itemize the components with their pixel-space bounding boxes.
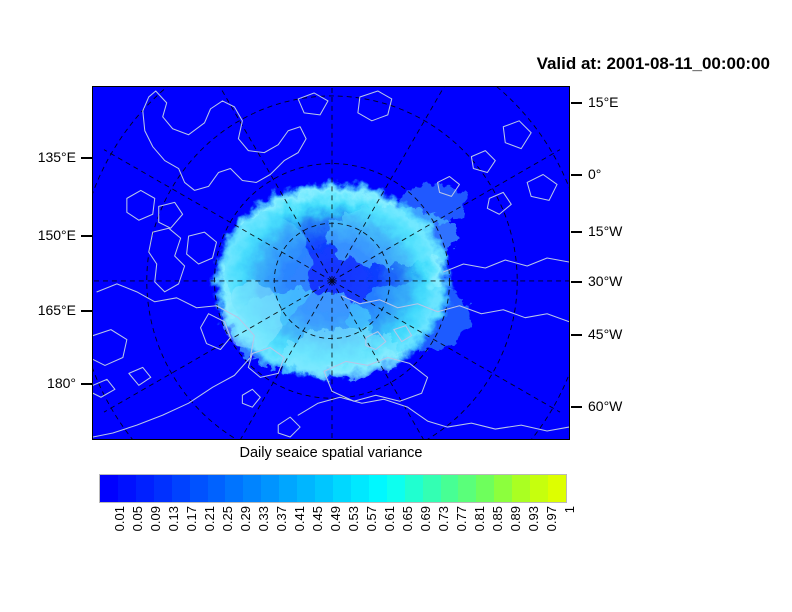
y-axis-tick — [81, 235, 92, 237]
colorbar-tick-label: 0.61 — [383, 506, 396, 531]
colorbar-swatch — [136, 475, 154, 502]
x-axis-tick — [571, 102, 582, 104]
x-axis-label-60w: 60°W — [588, 399, 622, 413]
colorbar-tick-label: 0.53 — [347, 506, 360, 531]
y-axis-tick — [81, 383, 92, 385]
colorbar-tick-label: 0.85 — [491, 506, 504, 531]
x-axis-tick — [571, 231, 582, 233]
colorbar-swatch — [512, 475, 530, 502]
colorbar-tick-label: 0.57 — [365, 506, 378, 531]
x-axis-tick — [571, 334, 582, 336]
colorbar-tick-label: 0.37 — [275, 506, 288, 531]
x-axis-tick — [571, 281, 582, 283]
map-plot-frame — [92, 86, 570, 440]
x-axis-label-45w: 45°W — [588, 327, 622, 341]
colorbar-tick-label: 0.29 — [239, 506, 252, 531]
colorbar-tick-label: 0.21 — [203, 506, 216, 531]
x-axis-label-15w: 15°W — [588, 224, 622, 238]
colorbar-swatch — [208, 475, 226, 502]
colorbar-tick-label: 0.41 — [293, 506, 306, 531]
y-axis-tick — [81, 157, 92, 159]
x-axis-label-30w: 30°W — [588, 274, 622, 288]
colorbar-gradient — [99, 474, 567, 503]
colorbar-tick-label: 0.25 — [221, 506, 234, 531]
colorbar-tick-label: 0.13 — [167, 506, 180, 531]
colorbar-swatch — [441, 475, 459, 502]
y-axis-label-135e: 135°E — [38, 150, 76, 164]
colorbar-tick-label: 0.49 — [329, 506, 342, 531]
y-axis-label-180: 180° — [47, 376, 76, 390]
colorbar-swatch — [548, 475, 566, 502]
x-axis-tick — [571, 174, 582, 176]
y-axis-label-165e: 165°E — [38, 303, 76, 317]
colorbar-tick-label: 0.73 — [437, 506, 450, 531]
colorbar-swatch — [405, 475, 423, 502]
colorbar-swatch — [476, 475, 494, 502]
x-axis-label-0: 0° — [588, 167, 601, 181]
colorbar-swatch — [351, 475, 369, 502]
plot-caption: Daily seaice spatial variance — [92, 445, 570, 461]
y-axis-label-150e: 150°E — [38, 228, 76, 242]
colorbar-swatch — [172, 475, 190, 502]
colorbar-tick-label: 0.65 — [401, 506, 414, 531]
colorbar-swatch — [190, 475, 208, 502]
colorbar-swatch — [458, 475, 476, 502]
colorbar-tick-label: 0.33 — [257, 506, 270, 531]
colorbar-tick-label: 0.81 — [473, 506, 486, 531]
colorbar-swatch — [315, 475, 333, 502]
map-canvas — [93, 87, 569, 439]
colorbar-swatch — [494, 475, 512, 502]
colorbar-tick-label: 0.01 — [113, 506, 126, 531]
colorbar-tick-labels: 0.010.050.090.130.170.210.250.290.330.37… — [99, 506, 567, 566]
colorbar-swatch — [279, 475, 297, 502]
colorbar-tick-label: 0.17 — [185, 506, 198, 531]
colorbar-swatch — [333, 475, 351, 502]
colorbar-tick-label: 0.09 — [149, 506, 162, 531]
colorbar-swatch — [530, 475, 548, 502]
colorbar-swatch — [423, 475, 441, 502]
colorbar — [99, 474, 567, 503]
colorbar-swatch — [243, 475, 261, 502]
colorbar-tick-label: 0.69 — [419, 506, 432, 531]
page-title: Valid at: 2001-08-11_00:00:00 — [0, 54, 770, 74]
x-axis-tick — [571, 406, 582, 408]
colorbar-swatch — [225, 475, 243, 502]
colorbar-swatch — [369, 475, 387, 502]
colorbar-tick-label: 0.93 — [527, 506, 540, 531]
colorbar-tick-label: 0.45 — [311, 506, 324, 531]
colorbar-tick-label: 0.05 — [131, 506, 144, 531]
colorbar-swatch — [100, 475, 118, 502]
colorbar-swatch — [118, 475, 136, 502]
colorbar-swatch — [387, 475, 405, 502]
colorbar-swatch — [297, 475, 315, 502]
colorbar-tick-label: 0.89 — [509, 506, 522, 531]
y-axis-tick — [81, 310, 92, 312]
colorbar-swatch — [154, 475, 172, 502]
x-axis-label-15e: 15°E — [588, 95, 619, 109]
colorbar-tick-label: 0.97 — [545, 506, 558, 531]
colorbar-tick-label: 0.77 — [455, 506, 468, 531]
colorbar-swatch — [261, 475, 279, 502]
colorbar-tick-label: 1 — [563, 506, 576, 513]
